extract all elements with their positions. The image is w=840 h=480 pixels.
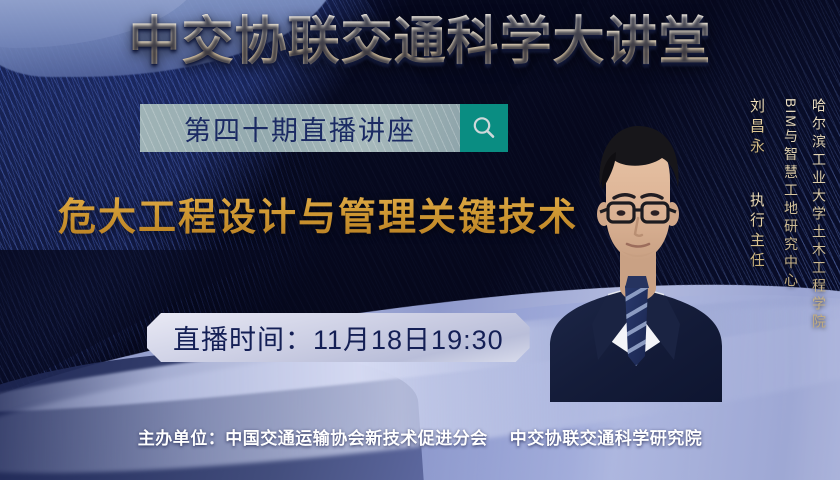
subtitle-bar: 第四十期直播讲座	[140, 104, 460, 152]
subtitle-label: 第四十期直播讲座	[184, 109, 416, 148]
live-time-badge: 直播时间：11月18日19:30	[147, 313, 530, 362]
footer-organizer-primary: 主办单位：中国交通运输协会新技术促进分会	[138, 429, 488, 448]
speaker-role: 执行主任	[749, 192, 764, 272]
speaker-portrait	[544, 110, 732, 402]
live-time-label: 直播时间：11月18日19:30	[173, 318, 504, 357]
speaker-affiliation-center: BIM与智慧工地研究中心	[784, 98, 798, 291]
footer-organizer-secondary: 中交协联交通科学研究院	[510, 429, 703, 448]
search-icon	[471, 115, 497, 141]
lecture-topic-title: 危大工程设计与管理关键技术	[58, 186, 578, 241]
poster-canvas: 中交协联交通科学大讲堂 第四十期直播讲座 危大工程设计与管理关键技术 直播时间：…	[0, 0, 840, 480]
search-button[interactable]	[460, 104, 508, 152]
speaker-affiliation-center-cjk: 与智慧工地研究中心	[783, 129, 799, 291]
subtitle-banner: 第四十期直播讲座	[140, 104, 508, 152]
footer-organizers: 主办单位：中国交通运输协会新技术促进分会中交协联交通科学研究院	[0, 424, 840, 449]
speaker-affiliation-institute: 哈尔滨工业大学土木工程学院	[812, 98, 826, 332]
speaker-affiliation-center-latin: BIM	[783, 98, 799, 129]
page-title: 中交协联交通科学大讲堂	[0, 14, 840, 70]
speaker-name: 刘昌永	[749, 98, 764, 158]
